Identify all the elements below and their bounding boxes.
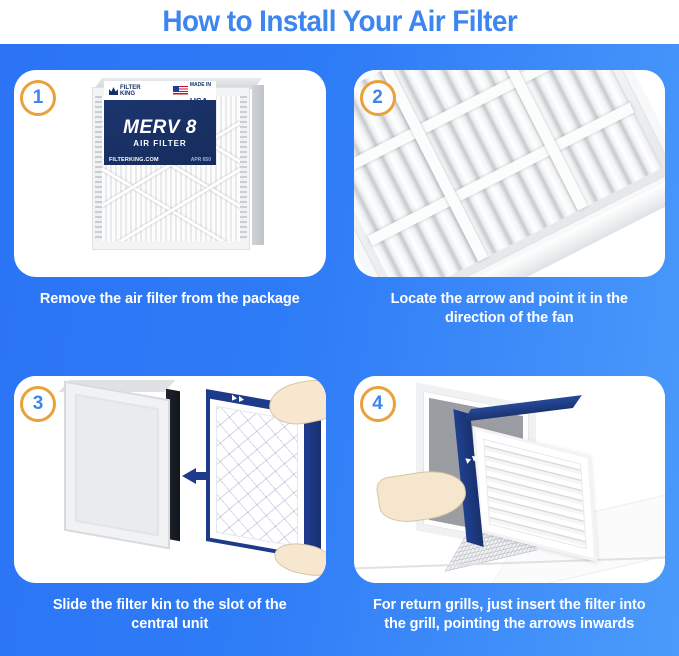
merv8-filter-box: FILTER KING MADE IN USA bbox=[92, 78, 264, 253]
central-unit-slot bbox=[64, 381, 170, 550]
infographic-page: How to Install Your Air Filter bbox=[0, 0, 679, 656]
step-3-illustration bbox=[14, 376, 326, 583]
step-caption-2: Locate the arrow and point it in the dir… bbox=[354, 290, 666, 328]
product-subtitle: AIR FILTER bbox=[133, 139, 186, 148]
step-caption-1: Remove the air filter from the package bbox=[14, 290, 326, 309]
page-title: How to Install Your Air Filter bbox=[162, 5, 517, 39]
filter-left-rail bbox=[95, 96, 102, 241]
brand-line-2: KING bbox=[120, 91, 135, 97]
arrow-glyph bbox=[239, 396, 244, 403]
support-wire bbox=[102, 156, 240, 241]
filter-cardboard-frame bbox=[354, 70, 666, 277]
step-card-3: 3 bbox=[14, 376, 326, 583]
product-label: FILTER KING MADE IN USA bbox=[104, 81, 216, 165]
label-navy-area: MERV 8 AIR FILTER FILTERKING.COM APR 650 bbox=[104, 100, 216, 165]
brand-name: FILTER KING bbox=[120, 85, 141, 97]
filter-right-rail bbox=[240, 96, 247, 241]
step-caption-4: For return grills, just insert the filte… bbox=[354, 596, 666, 634]
steps-grid: FILTER KING MADE IN USA bbox=[0, 44, 679, 656]
arrow-glyph bbox=[232, 395, 237, 402]
merv-rating: MERV 8 bbox=[123, 118, 197, 138]
step-1-illustration: FILTER KING MADE IN USA bbox=[14, 70, 326, 277]
filter-mesh-pattern bbox=[216, 406, 298, 547]
arrow-head bbox=[182, 468, 196, 484]
step-number: 2 bbox=[372, 87, 383, 109]
step-badge-1: 1 bbox=[20, 80, 56, 116]
step-2-illustration: Air Filter bbox=[354, 70, 666, 277]
filter-king-logo: FILTER KING bbox=[109, 85, 141, 97]
apr-rating: APR 650 bbox=[191, 157, 211, 163]
step-cell-3: 3 Slide the filter kin to the slot of th… bbox=[0, 350, 340, 656]
slot-inner-panel bbox=[75, 394, 159, 537]
step-caption-3: Slide the filter kin to the slot of the … bbox=[14, 596, 326, 634]
filter-corner-photo: Air Filter bbox=[354, 70, 666, 277]
step-card-2: Air Filter 2 bbox=[354, 70, 666, 277]
usa-flag-icon bbox=[173, 86, 188, 95]
step-card-4: 4 bbox=[354, 376, 666, 583]
step-card-1: FILTER KING MADE IN USA bbox=[14, 70, 326, 277]
label-footer: FILTERKING.COM APR 650 bbox=[104, 157, 216, 163]
step-badge-2: 2 bbox=[360, 80, 396, 116]
step-number: 1 bbox=[33, 87, 44, 109]
grill-louvers bbox=[483, 439, 587, 550]
crown-icon bbox=[109, 86, 118, 95]
step-badge-4: 4 bbox=[360, 386, 396, 422]
filter-side-edge bbox=[252, 85, 264, 245]
made-in-text: MADE IN bbox=[190, 82, 211, 88]
step-cell-4: 4 For return grills, just insert the fil… bbox=[340, 350, 679, 656]
filter-depth-side bbox=[308, 405, 321, 568]
label-header: FILTER KING MADE IN USA bbox=[104, 81, 216, 100]
step-cell-2: Air Filter 2 Locate the arrow and point … bbox=[340, 44, 679, 350]
step-number: 3 bbox=[33, 393, 44, 415]
website-text: FILTERKING.COM bbox=[109, 157, 159, 163]
step-cell-1: FILTER KING MADE IN USA bbox=[0, 44, 340, 350]
support-wire bbox=[102, 156, 240, 241]
step-4-illustration bbox=[354, 376, 666, 583]
step-number: 4 bbox=[372, 393, 383, 415]
step-badge-3: 3 bbox=[20, 386, 56, 422]
header: How to Install Your Air Filter bbox=[0, 0, 679, 44]
